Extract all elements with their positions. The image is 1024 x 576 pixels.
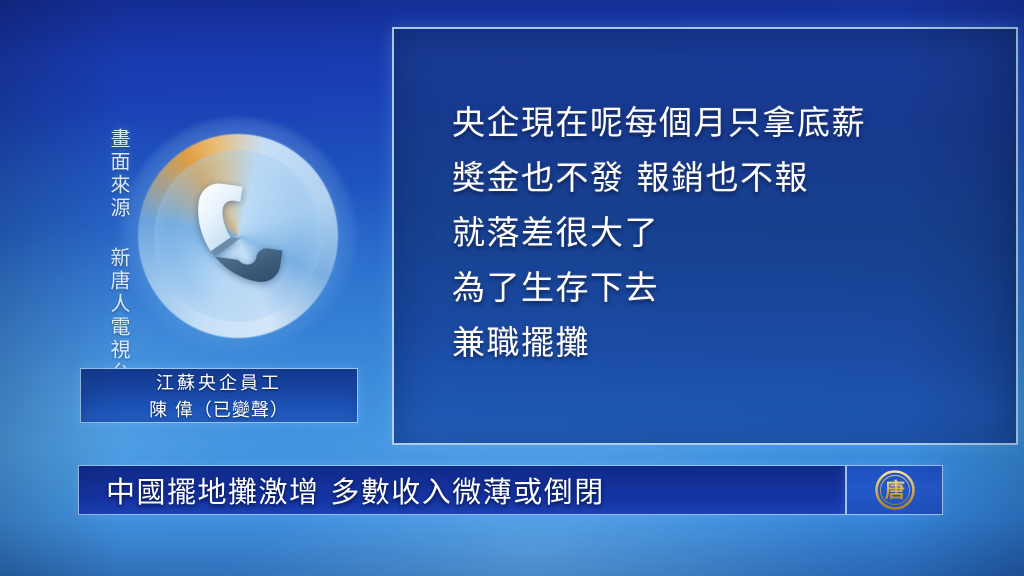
quote-panel: 央企現在呢每個月只拿底薪 獎金也不發 報銷也不報 就落差很大了 為了生存下去 兼… xyxy=(392,27,1018,445)
telephone-handset-icon xyxy=(171,169,304,302)
ntd-logo-icon: 唐 xyxy=(874,469,916,511)
source-attribution: 畫面來源 新唐人電視台 xyxy=(99,128,129,385)
broadcast-frame: 畫面來源 新唐人電視台 江蘇央企員工 陳 偉（已變聲） 央企現在呢每個月只拿底薪… xyxy=(0,0,1024,576)
phone-call-badge xyxy=(120,118,356,354)
quote-line-2: 獎金也不發 報銷也不報 xyxy=(452,150,1016,205)
speaker-name: 陳 偉（已變聲） xyxy=(149,396,289,422)
station-logo-box: 唐 xyxy=(846,465,943,515)
logo-glyph: 唐 xyxy=(885,478,905,502)
speaker-name-plate: 江蘇央企員工 陳 偉（已變聲） xyxy=(80,368,358,423)
quote-line-3: 就落差很大了 xyxy=(452,205,1016,260)
speaker-affiliation: 江蘇央企員工 xyxy=(156,369,282,395)
quote-line-4: 為了生存下去 xyxy=(452,260,1016,315)
quote-line-5: 兼職擺攤 xyxy=(452,315,1016,370)
quote-line-1: 央企現在呢每個月只拿底薪 xyxy=(452,95,1016,150)
headline-bar: 中國擺地攤激增 多數收入微薄或倒閉 xyxy=(78,465,846,515)
headline-text: 中國擺地攤激增 多數收入微薄或倒閉 xyxy=(106,469,605,511)
